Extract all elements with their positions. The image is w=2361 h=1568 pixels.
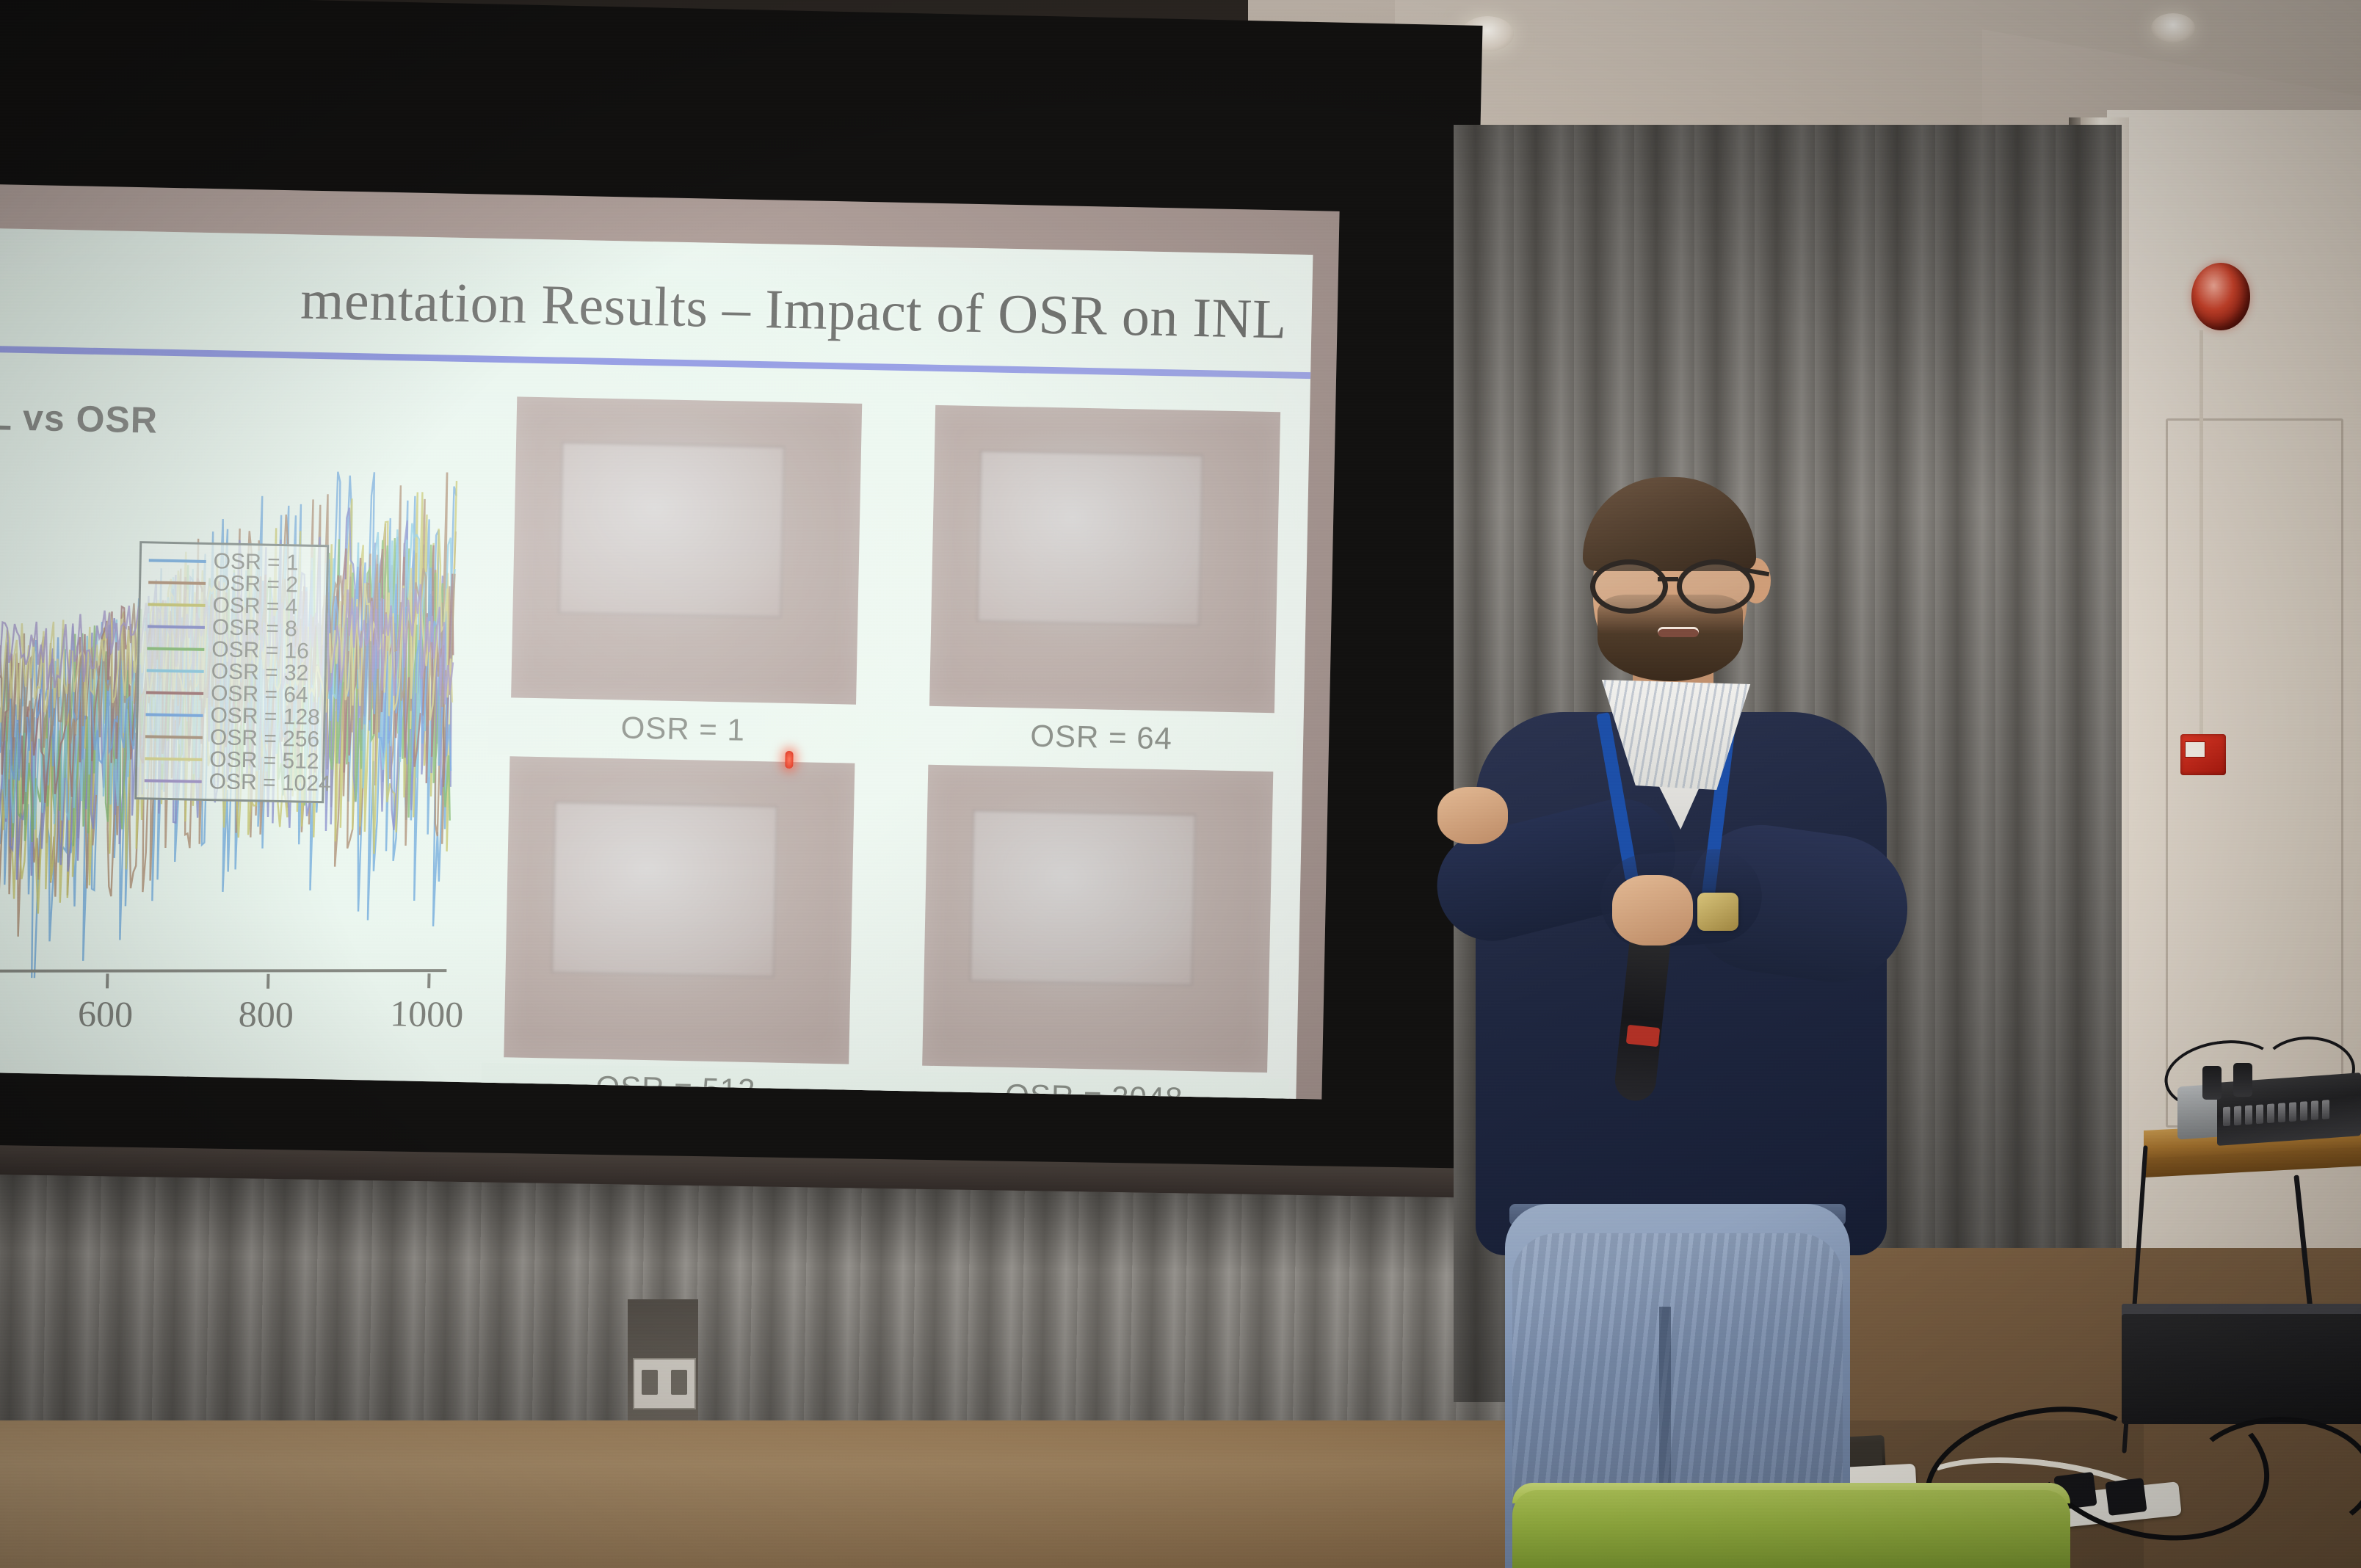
- osr-image: [922, 765, 1273, 1072]
- glasses-icon: [1590, 559, 1756, 603]
- slide-title: mentation Results – Impact of OSR on INL: [0, 258, 1312, 352]
- chart-legend: OSR = 1OSR = 2OSR = 4OSR = 8OSR = 16OSR …: [134, 541, 329, 803]
- osr-image-cell: OSR = 2048: [922, 765, 1273, 1072]
- chair[interactable]: [1512, 1490, 2070, 1568]
- microphone-band: [1626, 1025, 1660, 1047]
- presenter-mouth: [1658, 627, 1699, 637]
- fire-alarm-call-point-icon[interactable]: [2180, 734, 2226, 775]
- osr-image-grid: OSR = 1 OSR = 64 OSR = 512 OSR = 2048: [503, 396, 1280, 1099]
- wristwatch-icon: [1697, 893, 1738, 931]
- legend-swatch-icon: [149, 559, 206, 563]
- wall-socket-plate[interactable]: [633, 1358, 696, 1409]
- osr-image-label: OSR = 64: [929, 716, 1274, 758]
- legend-swatch-icon: [147, 647, 204, 651]
- projection-screen: mentation Results – Impact of OSR on INL…: [0, 184, 1340, 1100]
- legend-swatch-icon: [145, 713, 203, 717]
- mixer-knobs[interactable]: [2223, 1100, 2329, 1126]
- x-tick-label: 1000: [390, 992, 464, 1036]
- legend-swatch-icon: [146, 691, 203, 695]
- osr-image: [504, 756, 855, 1064]
- alarm-conduit: [2199, 330, 2203, 741]
- x-axis-ticks: 2004006008001000: [0, 974, 461, 1079]
- legend-swatch-icon: [145, 757, 202, 761]
- x-tick-label: 600: [78, 992, 134, 1036]
- osr-image: [511, 396, 862, 704]
- laser-pointer-dot: [785, 751, 793, 769]
- downlight-icon: [2151, 13, 2195, 43]
- legend-swatch-icon: [148, 581, 206, 585]
- presenter-hair: [1583, 477, 1756, 571]
- legend-swatch-icon: [145, 779, 202, 783]
- osr-image-inner: [976, 450, 1203, 626]
- presenter: [1380, 470, 1894, 1568]
- xlr-connector-icon: [2202, 1066, 2222, 1100]
- osr-image-inner: [969, 810, 1196, 986]
- presenter-left-hand: [1437, 787, 1508, 844]
- legend-swatch-icon: [145, 735, 203, 739]
- photo-canvas: mentation Results – Impact of OSR on INL…: [0, 0, 2361, 1568]
- legend-swatch-icon: [147, 669, 204, 673]
- x-tick: [266, 973, 269, 988]
- fire-alarm-strobe-icon: [2191, 263, 2250, 330]
- osr-image: [929, 405, 1280, 713]
- presenter-right-hand: [1612, 875, 1693, 945]
- legend-item: OSR = 1024: [144, 769, 315, 795]
- osr-image-cell: OSR = 64: [929, 405, 1280, 713]
- black-cable: [2188, 1417, 2361, 1537]
- legend-label: OSR = 1024: [208, 771, 331, 795]
- x-tick-label: 800: [238, 992, 294, 1036]
- osr-image-label: OSR = 1: [510, 708, 856, 749]
- chart-heading: INL vs OSR: [0, 395, 159, 442]
- slide: mentation Results – Impact of OSR on INL…: [0, 224, 1313, 1099]
- xlr-connector-icon: [2233, 1063, 2252, 1097]
- osr-image-inner: [551, 802, 778, 978]
- legend-swatch-icon: [148, 625, 205, 629]
- inl-vs-osr-chart: INL vs OSR 2004006008001000 Code OSR = 1…: [0, 368, 496, 1097]
- osr-image-inner: [558, 442, 785, 618]
- legend-swatch-icon: [148, 603, 206, 607]
- osr-image-cell: OSR = 1: [511, 396, 862, 704]
- osr-image-cell: OSR = 512: [504, 756, 855, 1064]
- x-tick: [427, 973, 430, 988]
- x-tick: [106, 974, 109, 989]
